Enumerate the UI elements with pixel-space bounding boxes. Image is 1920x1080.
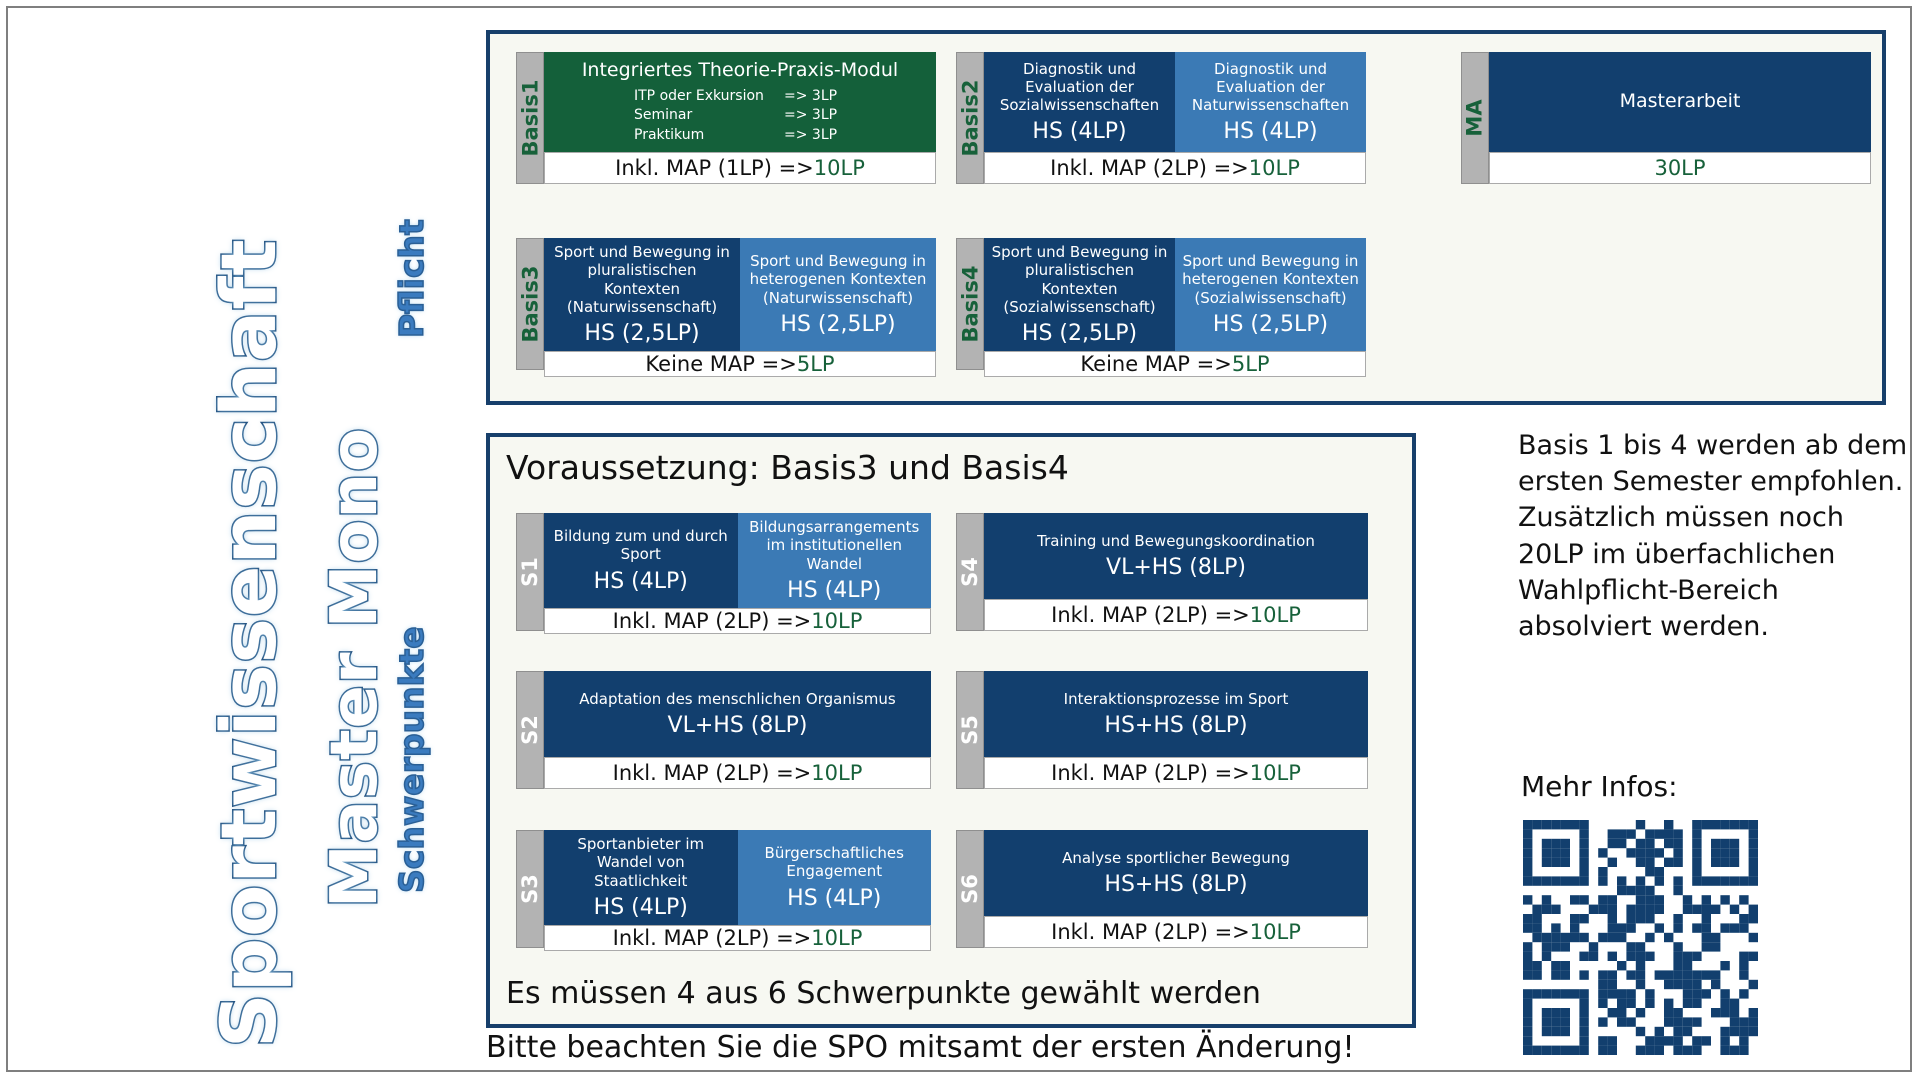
module-footer-credits: 30LP [1654,156,1705,180]
module-tab-basis2: Basis2 [956,52,984,184]
module-cell-credits: HS+HS (8LP) [1104,872,1247,897]
module-cell-credits: HS (2,5LP) [584,321,699,346]
module-cell-title: Sport und Bewegung in heterogenen Kontex… [1181,252,1360,307]
module-tab-label: Basis4 [958,266,982,343]
module-footer-prefix: Inkl. MAP (2LP) => [613,609,812,633]
schwerpunkte-heading: Voraussetzung: Basis3 und Basis4 [506,448,1069,487]
module-body: Interaktionsprozesse im SportHS+HS (8LP)… [984,671,1368,789]
module-footer-credits: 10LP [1250,603,1301,627]
module-cell-credits: HS (4LP) [594,895,688,920]
module-cell-line-list: ITP oder Exkursion=> 3LPSeminar=> 3LPPra… [550,87,930,145]
module-footer: 30LP [1489,152,1871,184]
module-cell[interactable]: Sport und Bewegung in pluralistischen Ko… [544,238,740,351]
module-tab-label: S6 [958,874,982,904]
module-cells: Integriertes Theorie-Praxis-ModulITP ode… [544,52,936,152]
module-card-ma[interactable]: MAMasterarbeit30LP [1461,52,1871,184]
module-cell-title: Interaktionsprozesse im Sport [1064,690,1289,708]
module-cell-credits: HS (4LP) [1223,119,1317,144]
module-footer: Inkl. MAP (2LP) => 10LP [984,757,1368,789]
module-cell-title: Analyse sportlicher Bewegung [1062,849,1290,867]
module-tab-label: S1 [518,557,542,587]
module-cell-credits: HS+HS (8LP) [1104,713,1247,738]
module-cell[interactable]: Bildungsarrangements im institutionellen… [738,513,932,608]
module-card-s2[interactable]: S2Adaptation des menschlichen Organismus… [516,671,931,789]
mehr-infos-label: Mehr Infos: [1521,770,1678,803]
module-footer-credits: 10LP [811,926,862,950]
module-body: Sport und Bewegung in pluralistischen Ko… [544,238,936,370]
section-label-pflicht: Pflicht [392,219,431,338]
module-cell-title: Bildung zum und durch Sport [550,527,732,564]
module-footer: Inkl. MAP (2LP) => 10LP [984,916,1368,948]
module-footer: Inkl. MAP (2LP) => 10LP [544,757,931,789]
module-cell-title: Bürgerschaftliches Engagement [744,844,926,881]
module-tab-s1: S1 [516,513,544,631]
module-cell-line-name: Praktikum [634,126,784,145]
module-cell[interactable]: Training und BewegungskoordinationVL+HS … [984,513,1368,599]
module-cell[interactable]: Interaktionsprozesse im SportHS+HS (8LP) [984,671,1368,757]
module-footer-prefix: Keine MAP => [1080,352,1231,376]
module-cells: Sport und Bewegung in pluralistischen Ko… [984,238,1366,351]
module-card-basis4[interactable]: Basis4Sport und Bewegung in pluralistisc… [956,238,1366,370]
page-frame: Sportwissenschaft Master Mono Pflicht Sc… [6,6,1912,1072]
module-footer-credits: 10LP [811,609,862,633]
module-cell-title: Sport und Bewegung in heterogenen Kontex… [746,252,930,307]
program-title-line1: Sportwissenschaft [204,238,293,1048]
module-cell-line: ITP oder Exkursion=> 3LP [550,87,930,106]
module-card-s4[interactable]: S4Training und BewegungskoordinationVL+H… [956,513,1368,631]
module-tab-label: S3 [518,874,542,904]
section-label-schwerpunkte: Schwerpunkte [392,626,431,893]
module-footer: Inkl. MAP (2LP) => 10LP [984,599,1368,631]
module-cell[interactable]: Sport und Bewegung in pluralistischen Ko… [984,238,1175,351]
module-body: Sportanbieter im Wandel von Staatlichkei… [544,830,931,948]
module-cell[interactable]: Integriertes Theorie-Praxis-ModulITP ode… [544,52,936,152]
module-footer-credits: 10LP [1250,920,1301,944]
module-cell[interactable]: Diagnostik und Evaluation der Sozialwiss… [984,52,1175,152]
module-footer-credits: 10LP [1249,156,1300,180]
module-footer-prefix: Keine MAP => [645,352,796,376]
module-cell-credits: VL+HS (8LP) [668,713,808,738]
module-cells: Sportanbieter im Wandel von Staatlichkei… [544,830,931,925]
module-cell-title: Masterarbeit [1620,90,1741,113]
module-cell-line-credits: => 3LP [784,106,846,125]
module-cell-credits: HS (4LP) [787,886,881,911]
module-tab-basis4: Basis4 [956,238,984,370]
module-card-s6[interactable]: S6Analyse sportlicher BewegungHS+HS (8LP… [956,830,1368,948]
module-body: Diagnostik und Evaluation der Sozialwiss… [984,52,1366,184]
module-cells: Bildung zum und durch SportHS (4LP)Bildu… [544,513,931,608]
module-cell-title: Sport und Bewegung in pluralistischen Ko… [550,243,734,316]
module-body: Analyse sportlicher BewegungHS+HS (8LP)I… [984,830,1368,948]
module-cells: Diagnostik und Evaluation der Sozialwiss… [984,52,1366,152]
module-cell[interactable]: Bildung zum und durch SportHS (4LP) [544,513,738,608]
module-footer: Inkl. MAP (2LP) => 10LP [544,925,931,951]
module-tab-label: S5 [958,715,982,745]
module-cell-line-name: Seminar [634,106,784,125]
module-footer: Keine MAP => 5LP [544,351,936,377]
module-body: Adaptation des menschlichen OrganismusVL… [544,671,931,789]
module-cell[interactable]: Masterarbeit [1489,52,1871,152]
qr-code[interactable] [1523,820,1758,1055]
module-cell-line-name: ITP oder Exkursion [634,87,784,106]
module-footer-prefix: Inkl. MAP (1LP) => [615,156,814,180]
spo-note: Bitte beachten Sie die SPO mitsamt der e… [486,1030,1355,1065]
module-footer-credits: 5LP [797,352,835,376]
module-cell[interactable]: Sport und Bewegung in heterogenen Kontex… [1175,238,1366,351]
module-cell-credits: HS (2,5LP) [1022,321,1137,346]
module-cells: Adaptation des menschlichen OrganismusVL… [544,671,931,757]
module-footer-prefix: Inkl. MAP (2LP) => [1051,603,1250,627]
module-cells: Sport und Bewegung in pluralistischen Ko… [544,238,936,351]
module-tab-label: Basis2 [958,80,982,157]
module-tab-s5: S5 [956,671,984,789]
module-cells: Masterarbeit [1489,52,1871,152]
module-card-basis3[interactable]: Basis3Sport und Bewegung in pluralistisc… [516,238,936,370]
module-tab-label: Basis1 [518,80,542,157]
module-card-s1[interactable]: S1Bildung zum und durch SportHS (4LP)Bil… [516,513,931,631]
module-cell[interactable]: Diagnostik und Evaluation der Naturwisse… [1175,52,1366,152]
module-tab-label: S2 [518,715,542,745]
module-footer-credits: 10LP [1250,761,1301,785]
module-cell-line-credits: => 3LP [784,126,846,145]
module-cell-title: Training und Bewegungskoordination [1037,532,1315,550]
module-tab-label: S4 [958,557,982,587]
module-body: Bildung zum und durch SportHS (4LP)Bildu… [544,513,931,631]
module-tab-s6: S6 [956,830,984,948]
module-footer-prefix: Inkl. MAP (2LP) => [613,926,812,950]
program-title-line2: Master Mono [318,427,392,908]
module-tab-s2: S2 [516,671,544,789]
module-footer-credits: 10LP [814,156,865,180]
module-cell-title: Sportanbieter im Wandel von Staatlichkei… [550,835,732,890]
module-cell-credits: HS (4LP) [787,578,881,603]
module-cell-credits: HS (4LP) [594,569,688,594]
module-cell-credits: HS (2,5LP) [1213,312,1328,337]
schwerpunkte-footer: Es müssen 4 aus 6 Schwerpunkte gewählt w… [506,976,1261,1011]
module-cell-title: Diagnostik und Evaluation der Sozialwiss… [990,60,1169,115]
module-body: Integriertes Theorie-Praxis-ModulITP ode… [544,52,936,184]
module-body: Sport und Bewegung in pluralistischen Ko… [984,238,1366,370]
module-card-s5[interactable]: S5Interaktionsprozesse im SportHS+HS (8L… [956,671,1368,789]
module-cell-title: Integriertes Theorie-Praxis-Modul [582,59,898,82]
module-cell-line-credits: => 3LP [784,87,846,106]
module-body: Training und BewegungskoordinationVL+HS … [984,513,1368,631]
module-cells: Analyse sportlicher BewegungHS+HS (8LP) [984,830,1368,916]
program-title: Sportwissenschaft Master Mono [8,8,378,1074]
module-card-basis1[interactable]: Basis1Integriertes Theorie-Praxis-ModulI… [516,52,936,184]
module-tab-label: MA [1463,99,1487,136]
module-tab-s4: S4 [956,513,984,631]
module-cell-title: Sport und Bewegung in pluralistischen Ko… [990,243,1169,316]
module-cell-line: Praktikum=> 3LP [550,126,930,145]
module-cell-credits: HS (4LP) [1032,119,1126,144]
module-footer: Keine MAP => 5LP [984,351,1366,377]
module-footer-credits: 10LP [811,761,862,785]
module-body: Masterarbeit30LP [1489,52,1871,184]
module-cell-title: Adaptation des menschlichen Organismus [579,690,896,708]
module-tab-basis3: Basis3 [516,238,544,370]
module-cell[interactable]: Sportanbieter im Wandel von Staatlichkei… [544,830,738,925]
module-footer: Inkl. MAP (1LP) => 10LP [544,152,936,184]
module-cells: Interaktionsprozesse im SportHS+HS (8LP) [984,671,1368,757]
module-cell[interactable]: Sport und Bewegung in heterogenen Kontex… [740,238,936,351]
info-paragraph: Basis 1 bis 4 werden ab dem ersten Semes… [1518,428,1918,645]
module-cell[interactable]: Bürgerschaftliches EngagementHS (4LP) [738,830,932,925]
module-footer: Inkl. MAP (2LP) => 10LP [544,608,931,634]
module-cell-credits: VL+HS (8LP) [1106,555,1246,580]
module-tab-label: Basis3 [518,266,542,343]
module-card-s3[interactable]: S3Sportanbieter im Wandel von Staatlichk… [516,830,931,948]
module-footer: Inkl. MAP (2LP) => 10LP [984,152,1366,184]
module-cell-credits: HS (2,5LP) [780,312,895,337]
module-footer-credits: 5LP [1232,352,1270,376]
module-footer-prefix: Inkl. MAP (2LP) => [1051,761,1250,785]
module-footer-prefix: Inkl. MAP (2LP) => [1051,920,1250,944]
module-tab-ma: MA [1461,52,1489,184]
module-cell[interactable]: Analyse sportlicher BewegungHS+HS (8LP) [984,830,1368,916]
module-tab-basis1: Basis1 [516,52,544,184]
module-cell[interactable]: Adaptation des menschlichen OrganismusVL… [544,671,931,757]
module-footer-prefix: Inkl. MAP (2LP) => [613,761,812,785]
module-cell-title: Diagnostik und Evaluation der Naturwisse… [1181,60,1360,115]
module-cells: Training und BewegungskoordinationVL+HS … [984,513,1368,599]
module-cell-line: Seminar=> 3LP [550,106,930,125]
module-tab-s3: S3 [516,830,544,948]
module-cell-title: Bildungsarrangements im institutionellen… [744,518,926,573]
module-footer-prefix: Inkl. MAP (2LP) => [1050,156,1249,180]
module-card-basis2[interactable]: Basis2Diagnostik und Evaluation der Sozi… [956,52,1366,184]
